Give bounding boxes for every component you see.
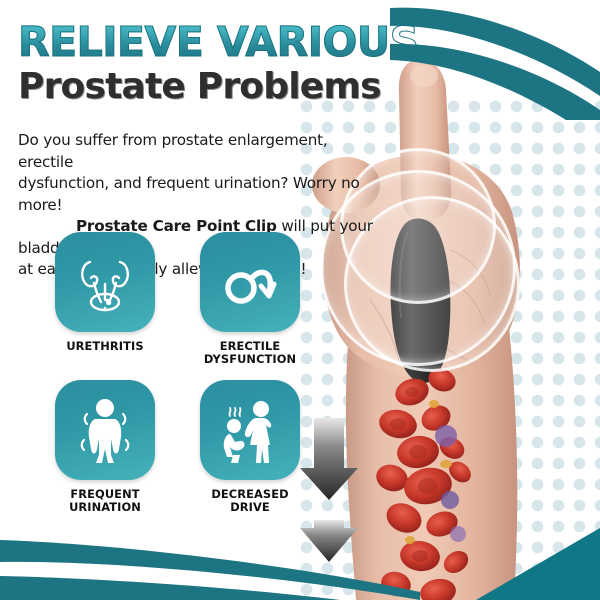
urinary-system-icon bbox=[73, 250, 137, 314]
benefit-item-decreased-drive[interactable]: DECREASED DRIVE bbox=[195, 380, 305, 514]
benefit-label: DECREASED DRIVE bbox=[195, 488, 305, 514]
benefit-label: ERECTILE DYSFUNCTION bbox=[195, 340, 305, 366]
benefit-item-urethritis[interactable]: URETHRITIS bbox=[50, 232, 160, 366]
benefit-label: URETHRITIS bbox=[50, 340, 160, 353]
body-line-2: dysfunction, and frequent urination? Wor… bbox=[18, 173, 386, 216]
drooping-male-symbol-icon bbox=[218, 250, 282, 314]
benefit-label-line: URINATION bbox=[50, 501, 160, 514]
body-line-1: Do you suffer from prostate enlargement,… bbox=[18, 130, 386, 173]
benefits-grid: URETHRITIS ERECTILE DYSFUNCTION bbox=[50, 232, 320, 514]
benefit-item-frequent-urination[interactable]: FREQUENT URINATION bbox=[50, 380, 160, 514]
corner-block-bottom-right bbox=[450, 522, 600, 600]
page-title-secondary: Prostate Problems bbox=[18, 69, 390, 105]
person-urgent-urination-icon bbox=[73, 397, 137, 463]
couple-low-libido-icon bbox=[217, 397, 283, 463]
benefit-tile bbox=[55, 380, 155, 480]
flow-arrow-bottom bbox=[300, 520, 358, 562]
benefit-label-line: DYSFUNCTION bbox=[195, 353, 305, 366]
benefit-label: FREQUENT URINATION bbox=[50, 488, 160, 514]
benefit-label-line: URETHRITIS bbox=[50, 340, 160, 353]
benefit-tile bbox=[55, 232, 155, 332]
advertisement-poster: RELIEVE VARIOUS Prostate Problems Do you… bbox=[0, 0, 600, 600]
benefit-label-line: DRIVE bbox=[195, 501, 305, 514]
page-title-primary: RELIEVE VARIOUS bbox=[18, 22, 390, 63]
benefit-tile bbox=[200, 380, 300, 480]
benefit-item-erectile-dysfunction[interactable]: ERECTILE DYSFUNCTION bbox=[195, 232, 305, 366]
fingernail bbox=[410, 65, 438, 87]
benefit-tile bbox=[200, 232, 300, 332]
headline-block: RELIEVE VARIOUS Prostate Problems bbox=[18, 22, 390, 105]
